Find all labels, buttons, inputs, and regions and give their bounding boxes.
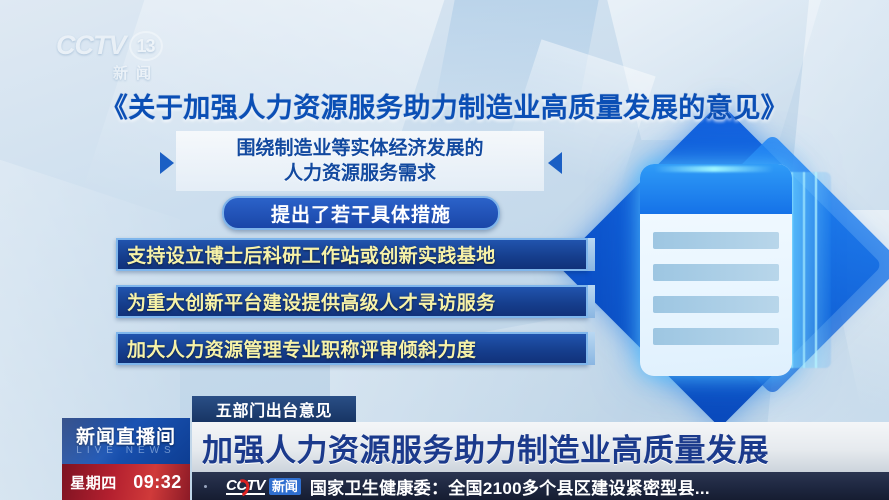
- broadcast-screen: CCTV13 新闻 《关于加强人力资源服务助力制造业高质量发展的意见》 围绕制造…: [0, 0, 889, 500]
- document-graphic: [585, 150, 889, 420]
- measure-bar-edge: [588, 238, 595, 271]
- document-glow: [654, 166, 774, 172]
- headline-bar: 加强人力资源服务助力制造业高质量发展: [192, 422, 889, 472]
- ticker-news-label: 新闻: [269, 478, 301, 495]
- measure-bar-text: 为重大创新平台建设提供高级人才寻访服务: [127, 288, 496, 315]
- lower-third: 新闻直播间 LIVE NEWS 星期四 09:32 五部门出台意见 加强人力资源…: [0, 396, 889, 500]
- measure-bar: 支持设立博士后科研工作站或创新实践基地: [116, 238, 588, 271]
- watermark-cctv-text: CCTV13: [56, 30, 216, 61]
- headline-text: 加强人力资源服务助力制造业高质量发展: [202, 425, 769, 470]
- measure-bar-text: 加大人力资源管理专业职称评审倾斜力度: [127, 335, 476, 362]
- program-name-en: LIVE NEWS: [62, 445, 190, 456]
- clock-box: 星期四 09:32: [62, 464, 190, 500]
- program-brand-box: 新闻直播间 LIVE NEWS: [62, 418, 190, 464]
- document-text-line: [653, 328, 779, 345]
- watermark-cctv-label: CCTV: [56, 30, 126, 60]
- cctv-news-logo: CCTV 新闻: [226, 478, 301, 495]
- measure-bar: 加大人力资源管理专业职称评审倾斜力度: [116, 332, 588, 365]
- measure-bar-edge: [588, 332, 595, 365]
- context-line-1: 围绕制造业等实体经济发展的: [236, 136, 483, 161]
- measures-pill-label: 提出了若干具体措施: [222, 196, 500, 230]
- triangle-left-icon: [160, 152, 174, 174]
- ticker-cctv-label: CCTV: [226, 478, 265, 495]
- triangle-right-icon: [548, 152, 562, 174]
- watermark-subtitle: 新闻: [56, 62, 216, 83]
- measure-bar-text: 支持设立博士后科研工作站或创新实践基地: [127, 241, 496, 268]
- document-text-line: [653, 264, 779, 281]
- ticker-text: 国家卫生健康委：全国2100多个县区建设紧密型县...: [310, 474, 710, 499]
- watermark-channel-number: 13: [129, 31, 163, 61]
- kicker-label: 五部门出台意见: [192, 396, 356, 422]
- measure-bar: 为重大创新平台建设提供高级人才寻访服务: [116, 285, 588, 318]
- cctv13-watermark: CCTV13 新闻: [56, 30, 216, 92]
- ticker-dot: [204, 485, 207, 488]
- page-title: 《关于加强人力资源服务助力制造业高质量发展的意见》: [0, 86, 889, 125]
- context-line-2: 人力资源服务需求: [284, 161, 436, 186]
- cctv-swoosh-icon: [231, 476, 253, 499]
- clock-time: 09:32: [133, 472, 182, 493]
- document-text-line: [653, 296, 779, 313]
- weekday-label: 星期四: [70, 472, 117, 493]
- measure-bar-edge: [588, 285, 595, 318]
- news-ticker: CCTV 新闻 国家卫生健康委：全国2100多个县区建设紧密型县...: [192, 472, 889, 500]
- document-sheet-icon: [640, 164, 792, 376]
- context-panel: 围绕制造业等实体经济发展的 人力资源服务需求: [176, 131, 544, 191]
- document-text-line: [653, 232, 779, 249]
